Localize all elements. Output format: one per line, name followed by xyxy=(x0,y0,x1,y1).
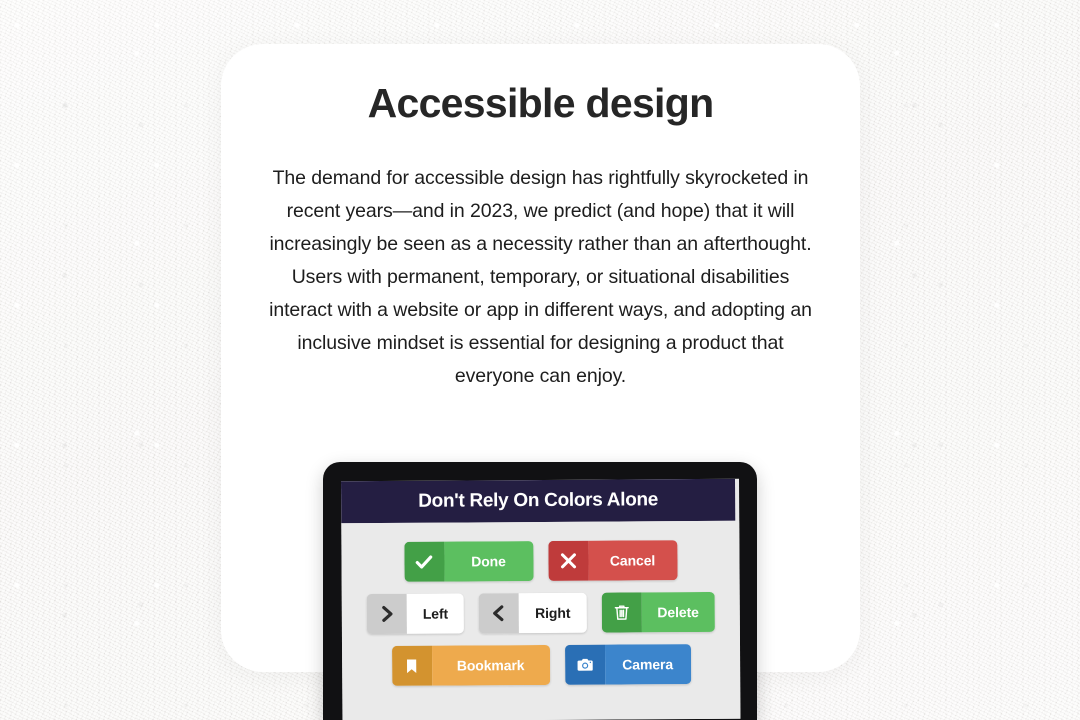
button-cancel[interactable]: Cancel xyxy=(548,540,677,581)
button-bookmark[interactable]: Bookmark xyxy=(392,645,550,686)
button-label: Done xyxy=(444,541,533,582)
button-label: Right xyxy=(519,593,587,633)
button-left[interactable]: Left xyxy=(367,593,465,634)
button-label: Camera xyxy=(605,644,691,685)
tablet-device-mockup: Don't Rely On Colors Alone DoneCancelLef… xyxy=(323,462,757,720)
button-label: Left xyxy=(407,593,465,633)
button-row: BookmarkCamera xyxy=(342,644,740,686)
tablet-screen: Don't Rely On Colors Alone DoneCancelLef… xyxy=(341,479,740,720)
button-label: Cancel xyxy=(588,540,677,581)
button-delete[interactable]: Delete xyxy=(601,592,715,633)
check-icon xyxy=(404,542,444,582)
page-title: Accessible design xyxy=(221,80,860,127)
chevron-left-icon xyxy=(479,593,519,633)
body-paragraph: The demand for accessible design has rig… xyxy=(267,162,814,393)
chevron-right-icon xyxy=(367,594,407,634)
screen-header-bar: Don't Rely On Colors Alone xyxy=(341,479,735,523)
bookmark-icon xyxy=(392,646,432,686)
screen-header-title: Don't Rely On Colors Alone xyxy=(418,489,658,512)
button-row: LeftRightDelete xyxy=(342,592,740,634)
button-label: Bookmark xyxy=(432,645,550,686)
close-icon xyxy=(548,541,588,581)
button-camera[interactable]: Camera xyxy=(565,644,691,685)
trash-icon xyxy=(601,592,641,632)
button-done[interactable]: Done xyxy=(404,541,533,582)
camera-icon xyxy=(565,645,605,685)
screen-body: DoneCancelLeftRightDeleteBookmarkCamera xyxy=(341,521,740,720)
button-row: DoneCancel xyxy=(341,540,739,582)
button-right[interactable]: Right xyxy=(479,593,587,634)
button-label: Delete xyxy=(641,592,715,632)
